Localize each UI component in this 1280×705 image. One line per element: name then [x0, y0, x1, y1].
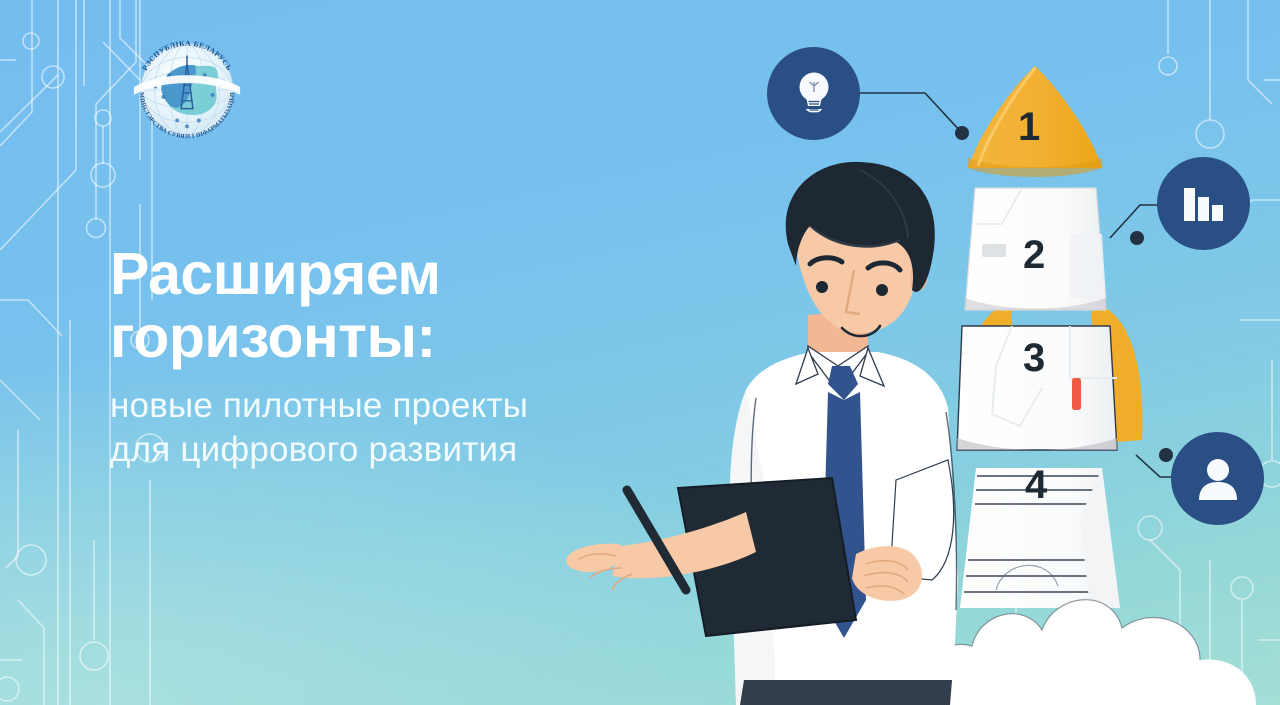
bar-chart-icon: [1181, 184, 1227, 224]
badge-bar-chart: [1157, 157, 1250, 250]
lightbulb-icon: [791, 68, 837, 120]
badge-user: [1171, 432, 1264, 525]
user-icon: [1196, 456, 1240, 502]
ministry-emblem: РЭСПУБЛІКА БЕЛАРУСЬ МІНІСТЭРСТВА СУВЯЗІ …: [128, 29, 246, 149]
subtitle-line-1: новые пилотные проекты: [110, 384, 750, 428]
page-title: Расширяем горизонты:: [110, 243, 730, 369]
subtitle-line-2: для цифрового развития: [110, 428, 750, 472]
poster-canvas: 1 2 3 4: [0, 0, 1280, 705]
page-subtitle: новые пилотные проекты для цифрового раз…: [110, 384, 750, 472]
headline-line-1: Расширяем: [110, 243, 730, 306]
badge-lightbulb: [767, 47, 860, 140]
headline-line-2: горизонты:: [110, 306, 730, 369]
